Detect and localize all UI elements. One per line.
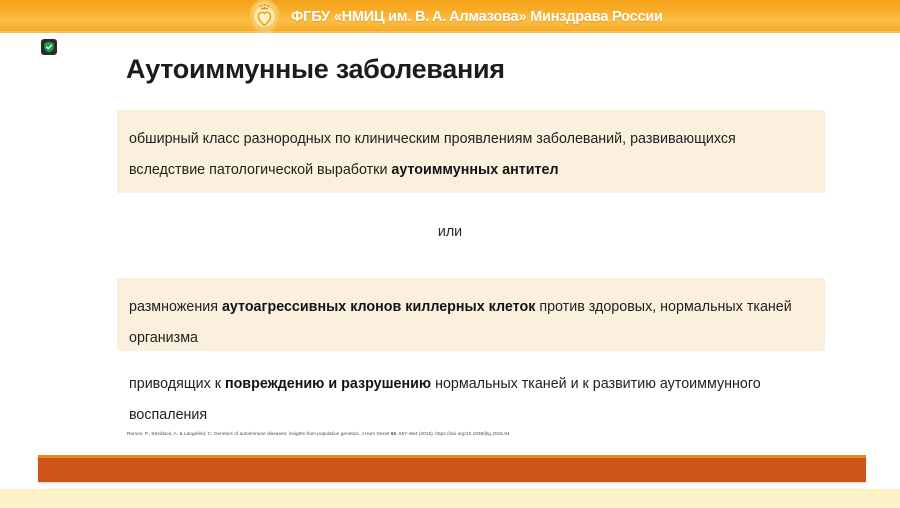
citation-prefix: Ramos, P., Shedlock, A. & Langefeld, C. … (127, 431, 391, 436)
source-citation: Ramos, P., Shedlock, A. & Langefeld, C. … (127, 430, 827, 437)
institution-header-band: ФГБУ «НМИЦ им. В. А. Алмазова» Минздрава… (0, 0, 900, 33)
connector-label: или (0, 224, 900, 240)
block-3-text-bold: повреждению и разрушению (225, 376, 431, 392)
footer-strip (0, 489, 900, 508)
page-title: Аутоиммунные заболевания (126, 54, 505, 85)
institution-name: ФГБУ «НМИЦ им. В. А. Алмазова» Минздрава… (291, 9, 663, 25)
block-2-text-bold: аутоагрессивных клонов киллерных клеток (222, 299, 535, 315)
citation-suffix: , 657–664 (2015). https://doi.org/10.103… (396, 431, 509, 436)
shield-check-icon[interactable] (41, 39, 57, 55)
text-block-definition-killer-cells: размножения аутоагрессивных клонов килле… (117, 278, 825, 351)
header-content: ФГБУ «НМИЦ им. В. А. Алмазова» Минздрава… (248, 0, 663, 33)
logo-emblem-icon (248, 0, 281, 33)
bottom-accent-bar (38, 455, 866, 482)
block-2-text-lead: размножения (129, 299, 222, 315)
text-block-consequence: приводящих к повреждению и разрушению но… (117, 357, 825, 429)
shield-check-glyph (43, 41, 55, 53)
block-1-text-bold: аутоиммунных антител (391, 162, 558, 178)
block-3-text-lead: приводящих к (129, 376, 225, 392)
text-block-definition-antibodies: обширный класс разнородных по клинически… (117, 110, 825, 193)
presentation-slide: ФГБУ «НМИЦ им. В. А. Алмазова» Минздрава… (0, 0, 900, 508)
crowned-heart-logo (248, 0, 281, 33)
